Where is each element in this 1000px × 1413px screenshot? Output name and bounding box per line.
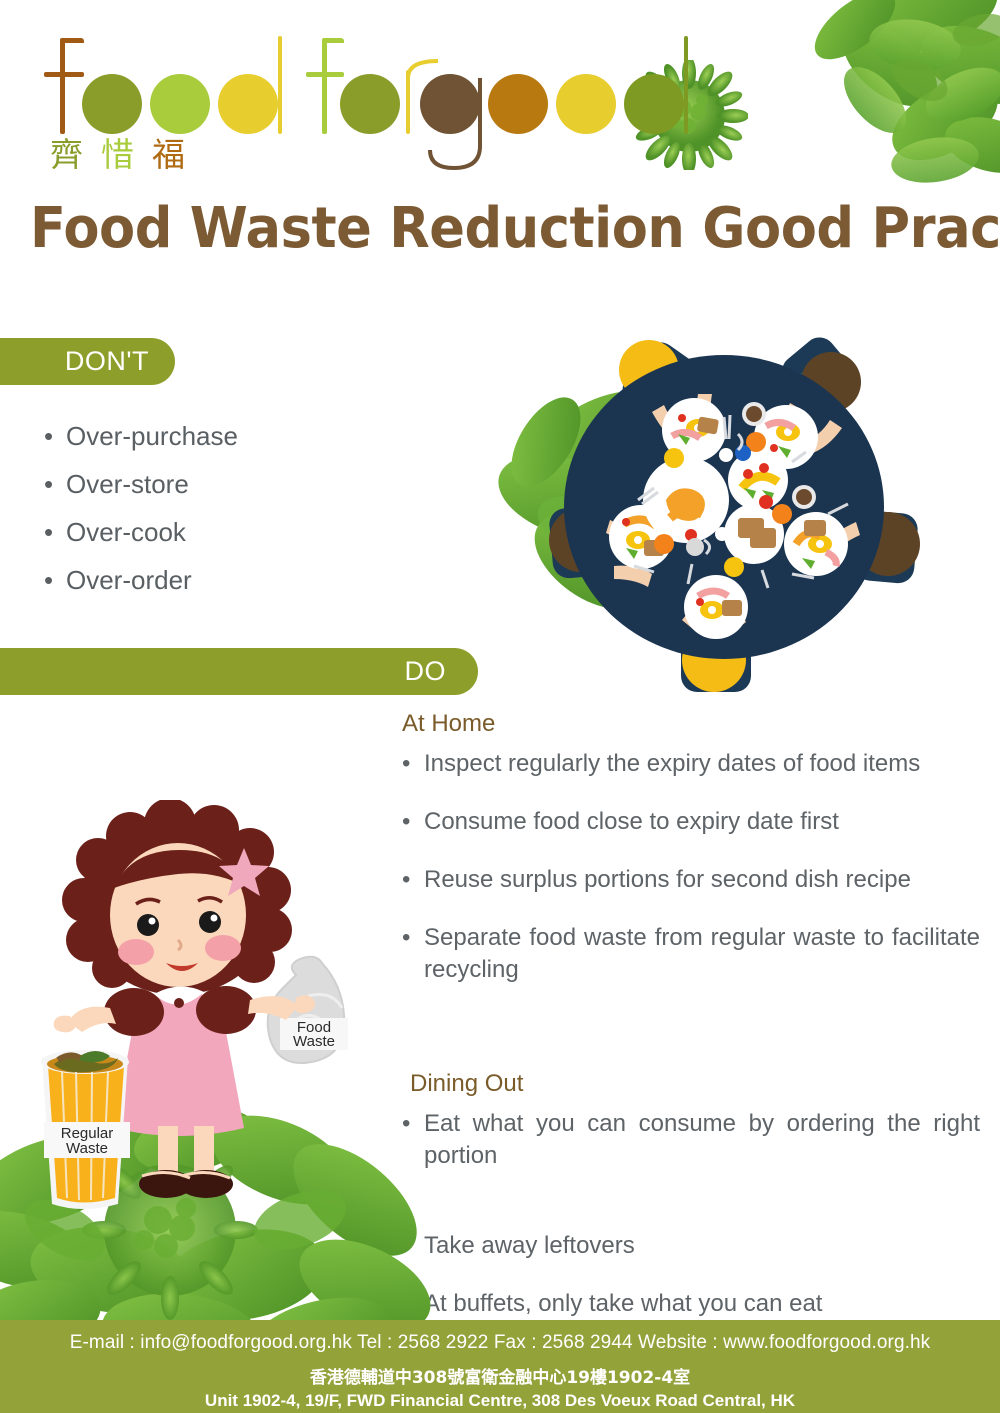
logo-letter-d1-stem bbox=[278, 36, 282, 134]
regular-waste-label-line2: Waste bbox=[66, 1140, 108, 1157]
footer-contact: E-mail : info@foodforgood.org.hk Tel : 2… bbox=[0, 1332, 1000, 1354]
logo-letter-o5 bbox=[556, 74, 616, 134]
footer-address-english: Unit 1902-4, 19/F, FWD Financial Centre,… bbox=[0, 1391, 1000, 1411]
logo-letter-d2-bowl bbox=[624, 74, 684, 134]
logo-chinese-name: 齊惜福 bbox=[50, 128, 203, 176]
logo-cn-char-3: 福 bbox=[152, 135, 203, 174]
footer-address-chinese: 香港德輔道中308號富衛金融中心19樓1902-4室 bbox=[0, 1363, 1000, 1388]
dining-out-block: Dining Out Eat what you can consume by o… bbox=[402, 1070, 980, 1346]
list-item: Over-order bbox=[44, 556, 374, 604]
dining-table-illustration bbox=[486, 322, 986, 722]
at-home-heading: At Home bbox=[402, 710, 980, 738]
at-home-list: Inspect regularly the expiry dates of fo… bbox=[402, 748, 980, 1018]
dining-out-heading: Dining Out bbox=[410, 1070, 980, 1098]
footer-bar: E-mail : info@foodforgood.org.hk Tel : 2… bbox=[0, 1320, 1000, 1413]
girl-recycling-illustration: Food Waste bbox=[18, 800, 398, 1220]
logo-letter-o2 bbox=[150, 74, 210, 134]
logo-cn-char-1: 齊 bbox=[50, 135, 101, 174]
do-banner-label: DO bbox=[405, 656, 447, 687]
logo-letter-d1-bowl bbox=[218, 74, 278, 134]
regular-waste-bin: Regular Waste bbox=[41, 1050, 130, 1209]
poster-root: 齊惜福 Food Waste Reduction Good Practice D… bbox=[0, 0, 1000, 1413]
logo-word-forgood bbox=[298, 24, 538, 134]
page-title: Food Waste Reduction Good Practice bbox=[30, 196, 970, 261]
list-item: At buffets, only take what you can eat bbox=[402, 1288, 980, 1320]
dont-banner: DON'T bbox=[0, 338, 175, 385]
logo-letter-o3 bbox=[340, 74, 400, 134]
list-item: Consume food close to expiry date first bbox=[402, 806, 980, 838]
dont-list: Over-purchase Over-store Over-cook Over-… bbox=[44, 412, 374, 604]
list-item: Reuse surplus portions for second dish r… bbox=[402, 864, 980, 896]
dont-banner-label: DON'T bbox=[65, 346, 149, 377]
logo-word-food bbox=[32, 24, 332, 134]
logo-letter-o1 bbox=[82, 74, 142, 134]
logo-cn-char-2: 惜 bbox=[101, 135, 152, 174]
list-item: Eat what you can consume by ordering the… bbox=[402, 1108, 980, 1204]
do-banner: DO bbox=[0, 648, 478, 695]
food-waste-label-line2: Waste bbox=[293, 1033, 335, 1050]
list-item: Separate food waste from regular waste t… bbox=[402, 922, 980, 1018]
logo-letter-d2-stem bbox=[684, 36, 688, 134]
dining-out-list: Eat what you can consume by ordering the… bbox=[402, 1108, 980, 1320]
list-item: Over-store bbox=[44, 460, 374, 508]
list-item: Over-purchase bbox=[44, 412, 374, 460]
logo-letter-g-tail bbox=[420, 74, 486, 172]
list-item: Over-cook bbox=[44, 508, 374, 556]
brand-logo: 齊惜福 bbox=[32, 24, 532, 174]
list-item: Inspect regularly the expiry dates of fo… bbox=[402, 748, 980, 780]
at-home-block: At Home Inspect regularly the expiry dat… bbox=[402, 710, 980, 1044]
list-item: Take away leftovers bbox=[402, 1230, 980, 1262]
logo-letter-o4 bbox=[488, 74, 548, 134]
